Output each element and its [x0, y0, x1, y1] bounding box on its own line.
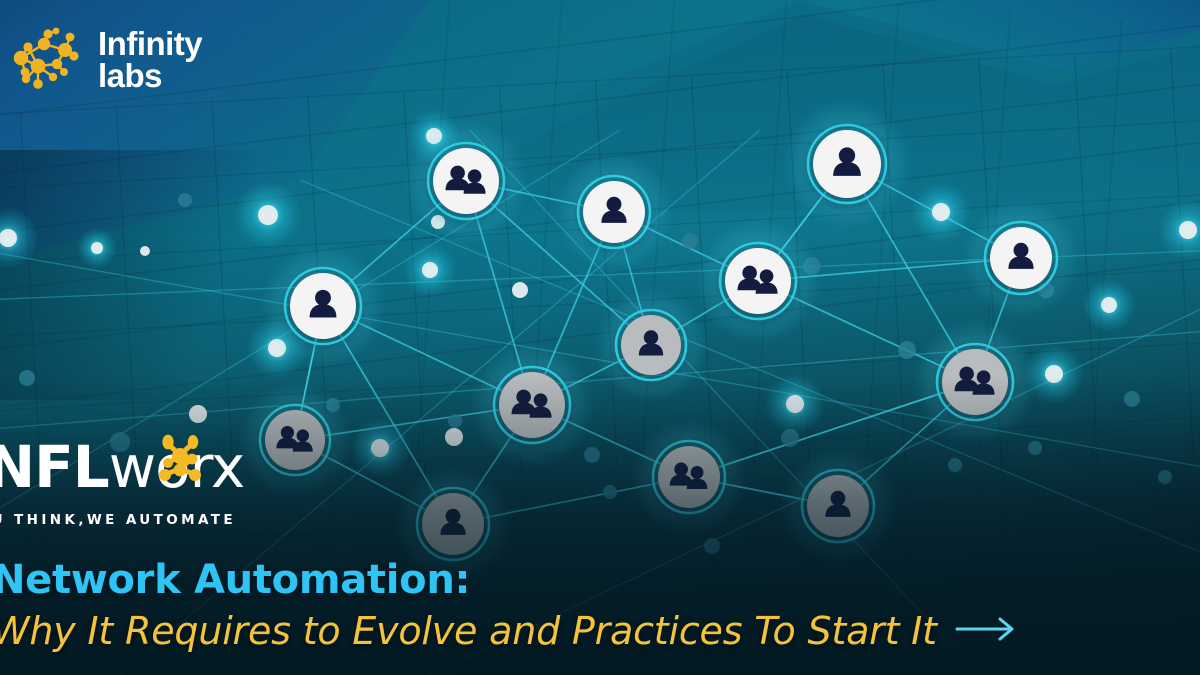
- page-subtitle: Why It Requires to Evolve and Practices …: [0, 609, 937, 653]
- page-title: Network Automation:: [0, 555, 1192, 605]
- infinity-labs-logo[interactable]: Infinity labs: [8, 22, 202, 98]
- promo-banner: Infinity labs INFLworx: [0, 0, 1200, 675]
- infinity-labs-line1: Infinity: [98, 28, 202, 60]
- headline-block: Network Automation: Why It Requires to E…: [0, 555, 1192, 653]
- infinity-labs-wordmark: Infinity labs: [98, 28, 202, 91]
- infinity-labs-line2: labs: [98, 60, 202, 92]
- inflworx-name-bold: INFL: [0, 433, 109, 501]
- subtitle-row: Why It Requires to Evolve and Practices …: [0, 609, 1192, 653]
- molecule-network-icon: [8, 22, 84, 98]
- arrow-right-icon[interactable]: [955, 616, 1021, 642]
- inflworx-logo[interactable]: INFLworx YOU THINK,WE AUTOMATE: [0, 432, 266, 504]
- inflworx-tagline: YOU THINK,WE AUTOMATE: [0, 512, 236, 528]
- molecule-burst-icon: [148, 430, 212, 494]
